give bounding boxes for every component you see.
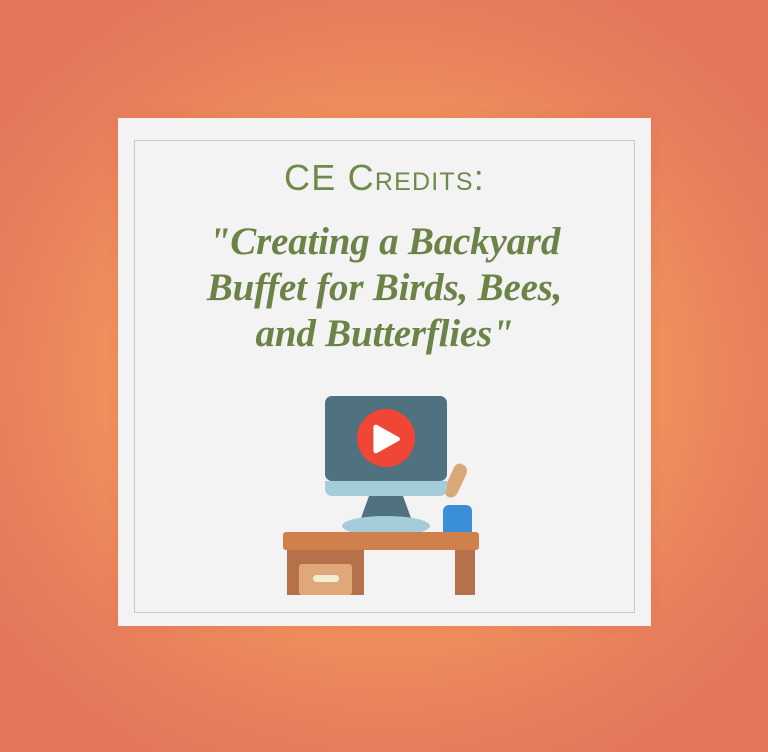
card-inner-border: CE Credits: "Creating a Backyard Buffet …	[134, 140, 635, 613]
desk-top	[283, 532, 479, 550]
title-line-1: "Creating a Backyard	[169, 219, 600, 265]
content-card: CE Credits: "Creating a Backyard Buffet …	[118, 118, 651, 626]
steam-icon	[444, 464, 467, 498]
desk-leg-right	[455, 548, 475, 595]
monitor-bezel	[325, 481, 447, 496]
illustration-svg	[277, 385, 492, 600]
eyebrow-prefix: CE	[284, 157, 348, 198]
drawer-handle-icon[interactable]	[313, 575, 339, 582]
text-block: CE Credits: "Creating a Backyard Buffet …	[135, 159, 634, 357]
page-title: "Creating a Backyard Buffet for Birds, B…	[135, 219, 634, 357]
title-line-3: and Butterflies"	[169, 311, 600, 357]
title-line-2: Buffet for Birds, Bees,	[169, 265, 600, 311]
monitor-neck	[361, 496, 411, 518]
desk-monitor-illustration	[135, 385, 634, 605]
eyebrow-rest: Credits:	[348, 157, 485, 198]
eyebrow-label: CE Credits:	[135, 159, 634, 197]
